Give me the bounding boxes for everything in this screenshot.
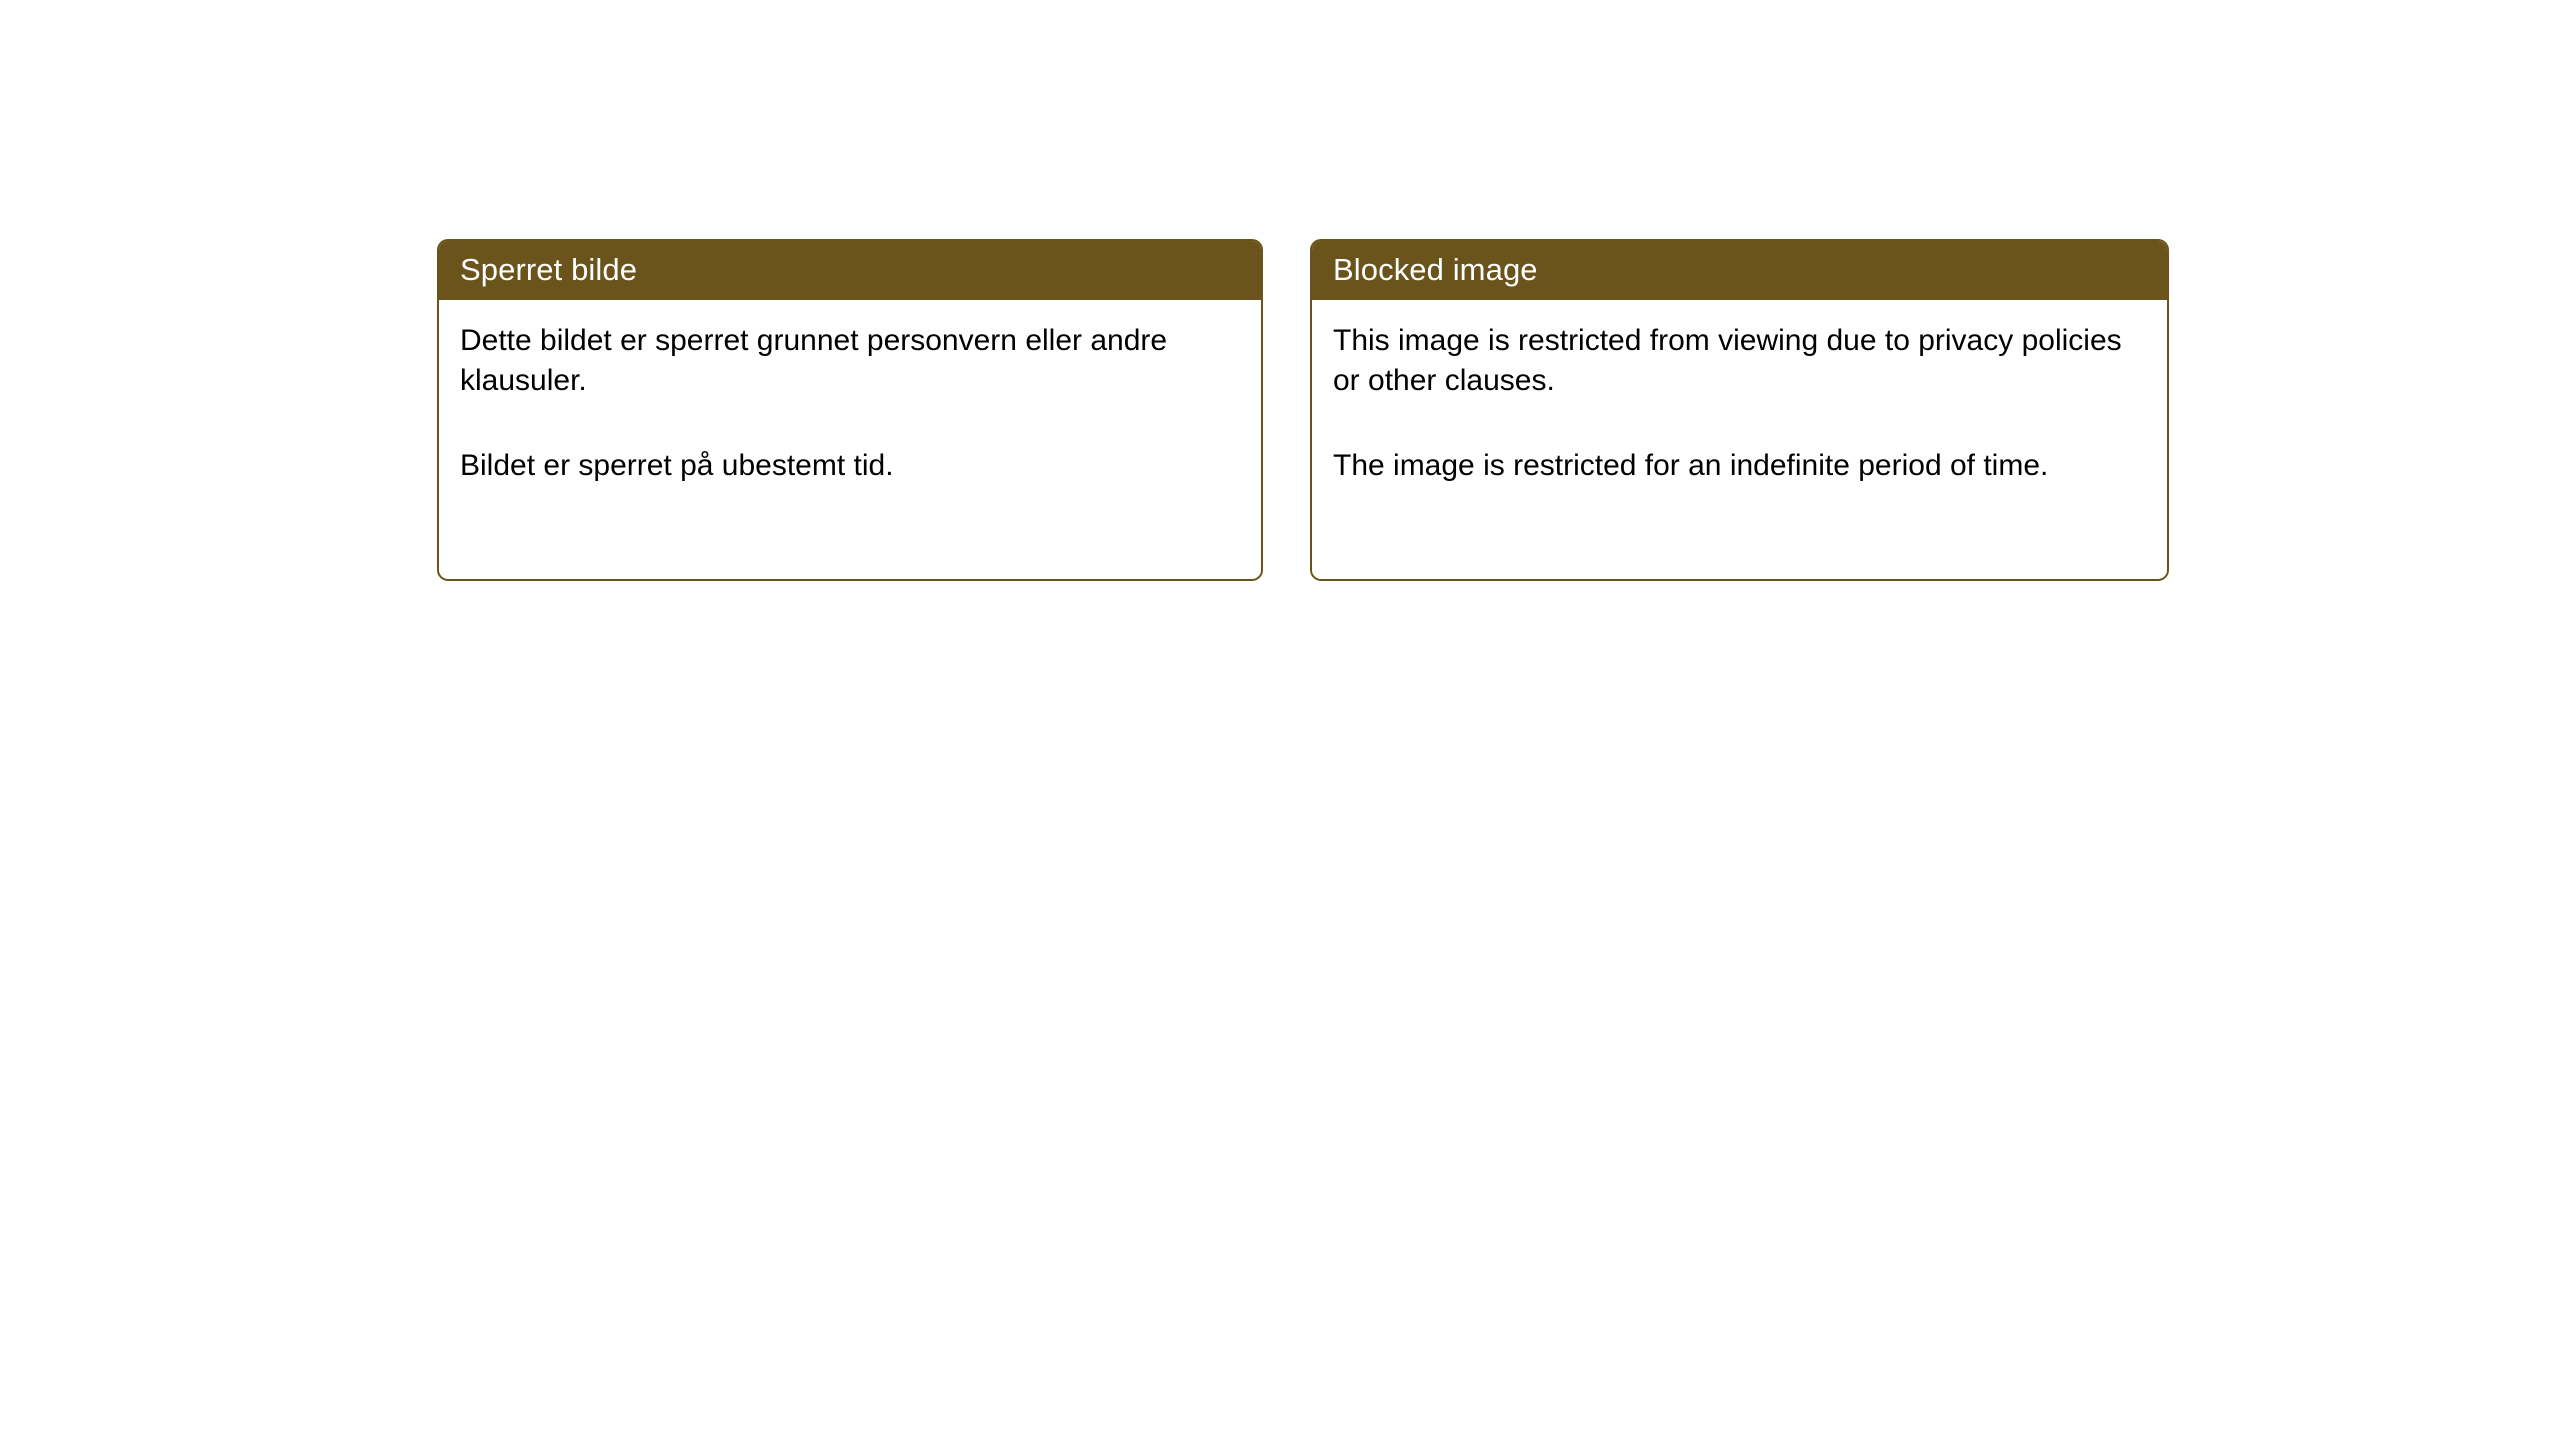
page-root: Sperret bilde Dette bildet er sperret gr… (0, 0, 2560, 1440)
card-paragraph-norwegian-2: Bildet er sperret på ubestemt tid. (460, 446, 1237, 486)
card-paragraph-english-1: This image is restricted from viewing du… (1333, 321, 2143, 401)
card-paragraph-english-2: The image is restricted for an indefinit… (1333, 446, 2143, 486)
card-header-norwegian: Sperret bilde (439, 241, 1261, 300)
card-title-norwegian: Sperret bilde (460, 254, 637, 285)
card-paragraph-norwegian-1: Dette bildet er sperret grunnet personve… (460, 321, 1237, 401)
card-body-english: This image is restricted from viewing du… (1312, 300, 2167, 486)
blocked-image-card-norwegian: Sperret bilde Dette bildet er sperret gr… (437, 239, 1263, 581)
card-body-norwegian: Dette bildet er sperret grunnet personve… (439, 300, 1261, 486)
card-header-english: Blocked image (1312, 241, 2167, 300)
card-title-english: Blocked image (1333, 254, 1538, 285)
blocked-image-card-english: Blocked image This image is restricted f… (1310, 239, 2169, 581)
